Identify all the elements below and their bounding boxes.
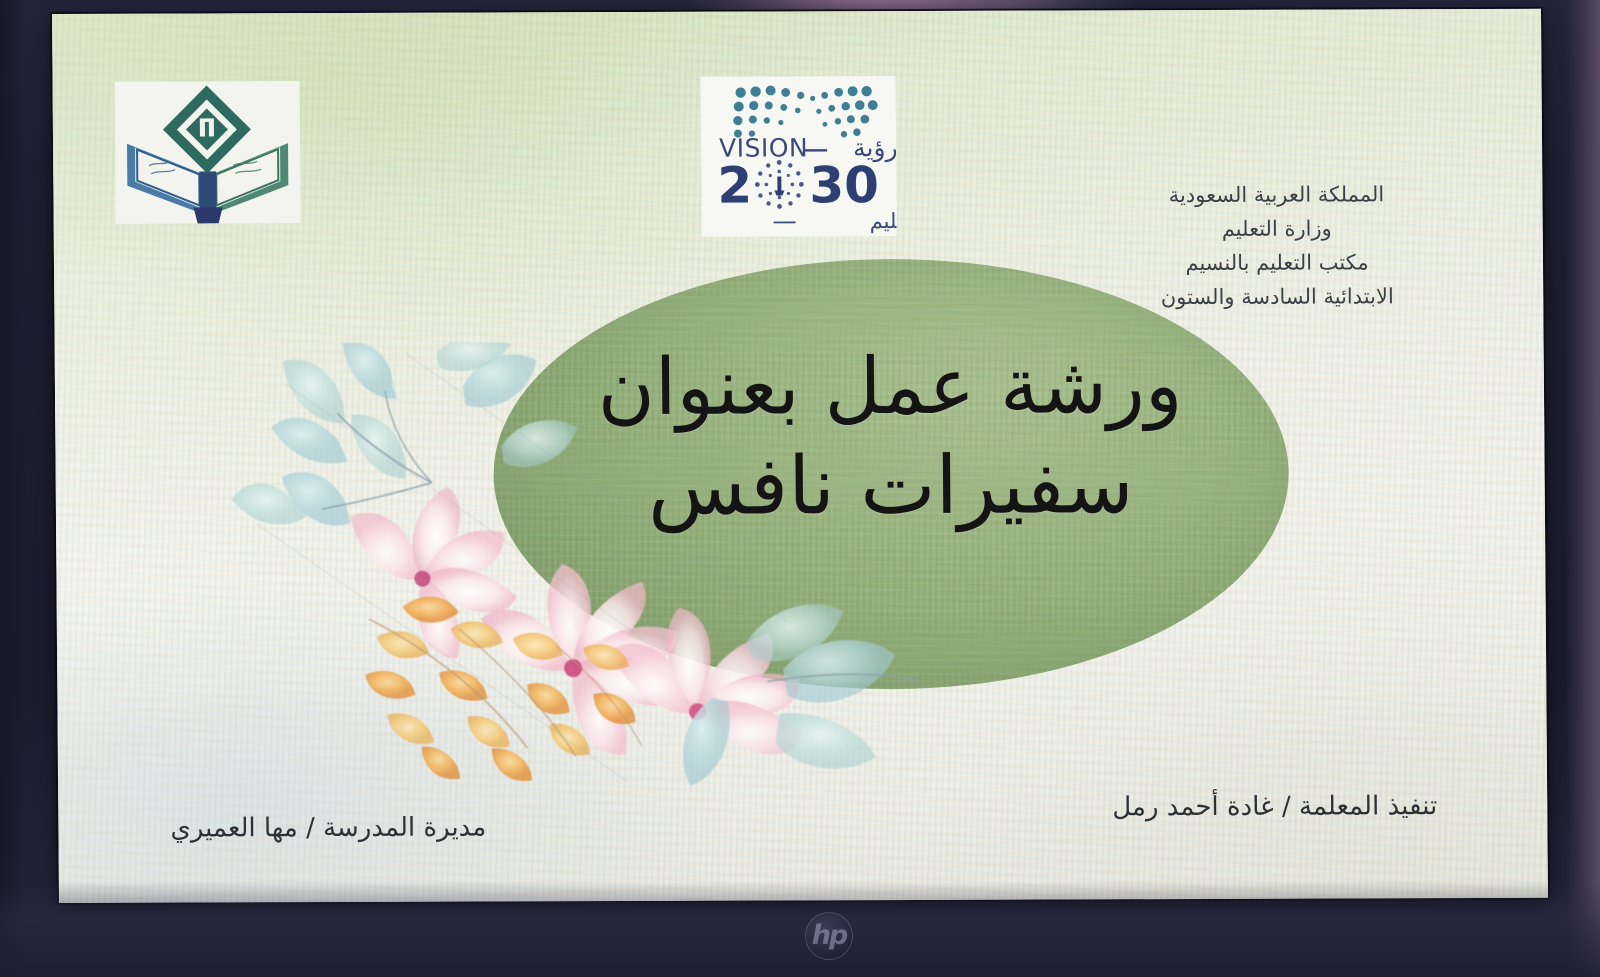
title-line-1: ورشة عمل بعنوان <box>485 340 1296 435</box>
school-emblem-logo <box>115 81 301 224</box>
slide-title: ورشة عمل بعنوان سفيرات نافس <box>485 340 1297 535</box>
bezel-right-edge <box>1566 0 1600 977</box>
svg-text:وزارة التعليم: وزارة التعليم <box>870 209 897 234</box>
svg-text:30: 30 <box>809 156 879 214</box>
bezel-left-edge <box>0 0 26 977</box>
laptop-screen: VISION رؤية 2 30 <box>52 9 1548 903</box>
laptop-device: VISION رؤية 2 30 <box>0 0 1600 977</box>
header-line-kingdom: المملكة العربية السعودية <box>1106 177 1446 212</box>
header-line-office: مكتب التعليم بالنسيم <box>1107 245 1447 280</box>
credit-principal: مديرة المدرسة / مها العميري <box>170 812 486 843</box>
vision-2030-logo: VISION رؤية 2 30 <box>701 76 897 237</box>
svg-text:2: 2 <box>717 157 752 215</box>
title-line-2: سفيرات نافس <box>485 438 1296 535</box>
header-line-school: الابتدائية السادسة والستون <box>1107 279 1447 314</box>
institution-header: المملكة العربية السعودية وزارة التعليم م… <box>1106 177 1447 314</box>
presentation-slide: VISION رؤية 2 30 <box>52 9 1548 903</box>
hp-logo-text: hp <box>812 922 847 949</box>
header-line-ministry: وزارة التعليم <box>1107 211 1447 246</box>
credit-teacher: تنفيذ المعلمة / غادة أحمد رمل <box>1112 791 1437 822</box>
hp-logo: hp <box>805 912 853 960</box>
